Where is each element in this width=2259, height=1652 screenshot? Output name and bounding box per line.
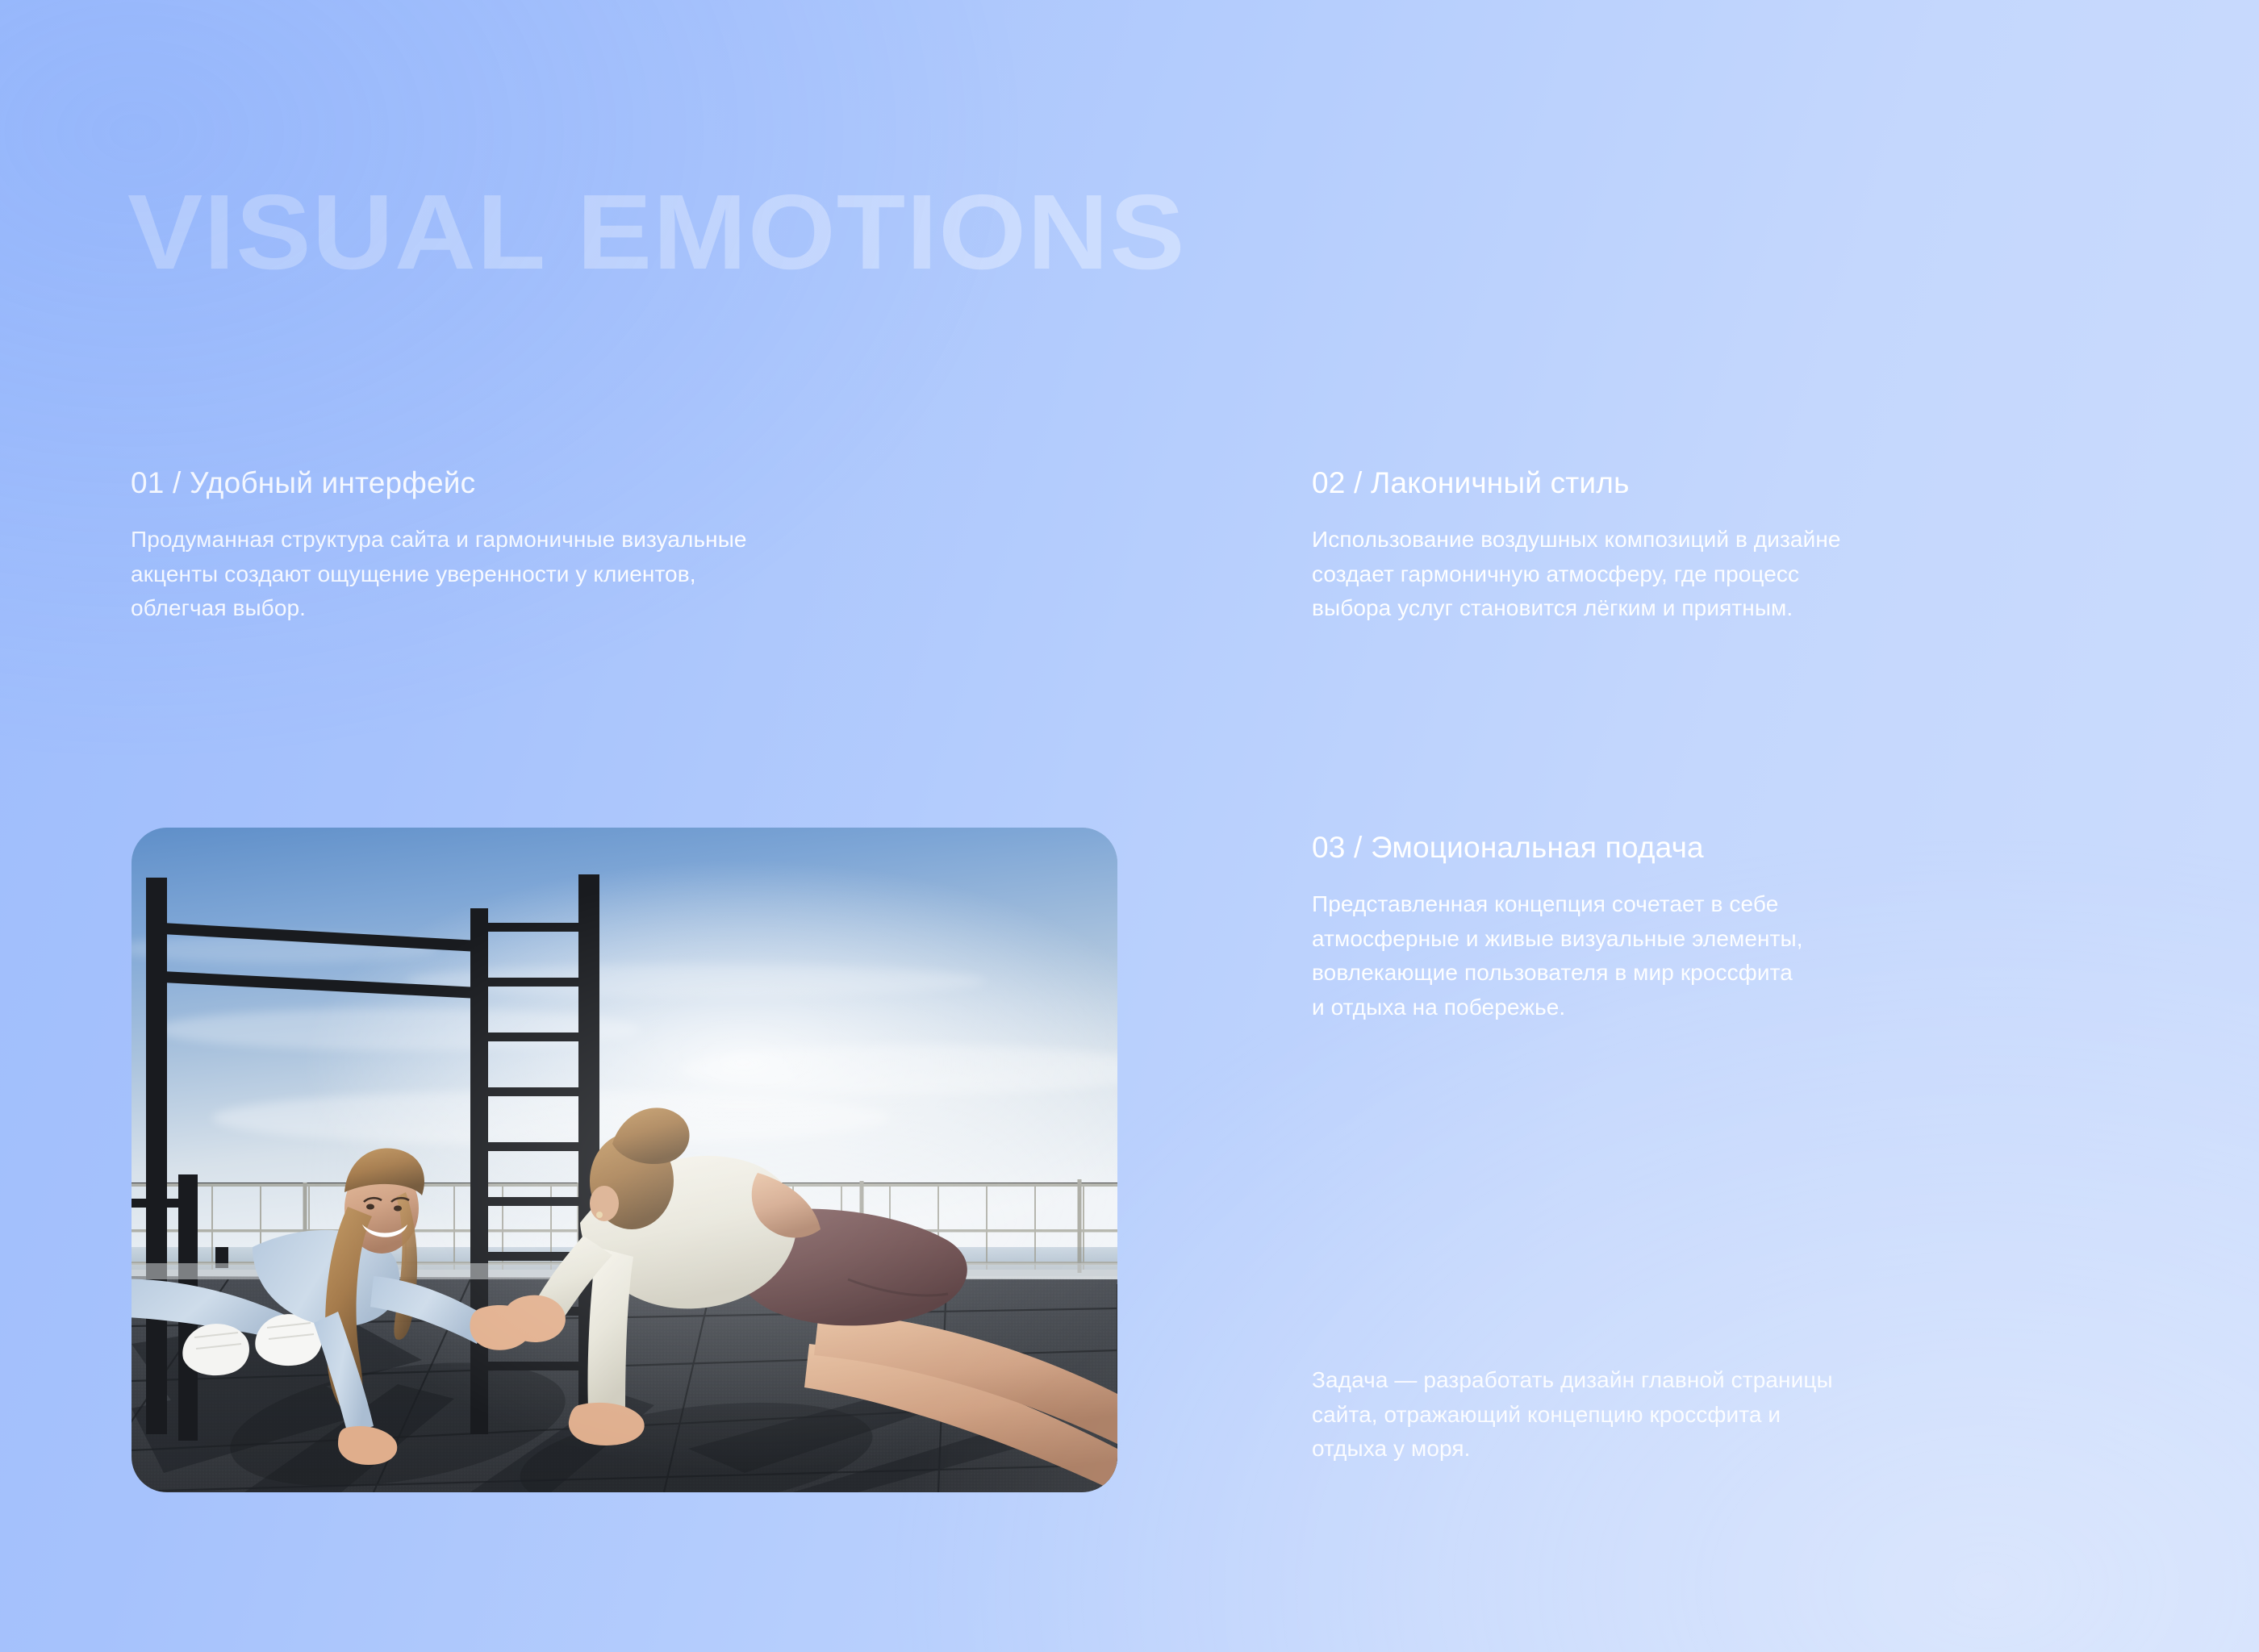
feature-body-03: Представленная концепция сочетает в себе… bbox=[1312, 887, 2038, 1024]
feature-body-02-line-2: создает гармоничную атмосферу, где проце… bbox=[1312, 557, 2086, 592]
feature-body-02-line-3: выбора услуг становится лёгким и приятны… bbox=[1312, 591, 2086, 626]
feature-body-03-line-4: и отдыха на побережье. bbox=[1312, 991, 2038, 1025]
feature-title-03: 03 / Эмоциональная подача bbox=[1312, 831, 2038, 865]
feature-block-01: 01 / Удобный интерфейс Продуманная струк… bbox=[131, 466, 1002, 626]
task-line-2: сайта, отражающий концепцию кроссфита и bbox=[1312, 1398, 2054, 1433]
task-statement: Задача — разработать дизайн главной стра… bbox=[1312, 1363, 2054, 1466]
slide-root: VISUAL EMOTIONS 01 / Удобный интерфейс П… bbox=[0, 0, 2259, 1652]
feature-body-03-line-1: Представленная концепция сочетает в себе bbox=[1312, 887, 2038, 922]
feature-body-03-line-3: вовлекающие пользователя в мир кроссфита bbox=[1312, 956, 2038, 991]
feature-block-03: 03 / Эмоциональная подача Представленная… bbox=[1312, 831, 2038, 1024]
feature-body-01-line-3: облегчая выбор. bbox=[131, 591, 1002, 626]
feature-title-02: 02 / Лаконичный стиль bbox=[1312, 466, 2086, 500]
feature-block-02: 02 / Лаконичный стиль Использование возд… bbox=[1312, 466, 2086, 626]
feature-body-01-line-2: акценты создают ощущение уверенности у к… bbox=[131, 557, 1002, 592]
photo-warm-overlay bbox=[132, 828, 1117, 1492]
page-title: VISUAL EMOTIONS bbox=[127, 179, 1186, 286]
task-line-3: отдыха у моря. bbox=[1312, 1432, 2054, 1466]
feature-body-02: Использование воздушных композиций в диз… bbox=[1312, 523, 2086, 626]
feature-body-01-line-1: Продуманная структура сайта и гармоничны… bbox=[131, 523, 1002, 557]
feature-title-01: 01 / Удобный интерфейс bbox=[131, 466, 1002, 500]
feature-body-02-line-1: Использование воздушных композиций в диз… bbox=[1312, 523, 2086, 557]
feature-body-03-line-2: атмосферные и живые визуальные элементы, bbox=[1312, 922, 2038, 957]
task-line-1: Задача — разработать дизайн главной стра… bbox=[1312, 1363, 2054, 1398]
feature-body-01: Продуманная структура сайта и гармоничны… bbox=[131, 523, 1002, 626]
hero-photo bbox=[132, 828, 1117, 1492]
workout-photo-illustration bbox=[132, 828, 1117, 1492]
task-body: Задача — разработать дизайн главной стра… bbox=[1312, 1363, 2054, 1466]
